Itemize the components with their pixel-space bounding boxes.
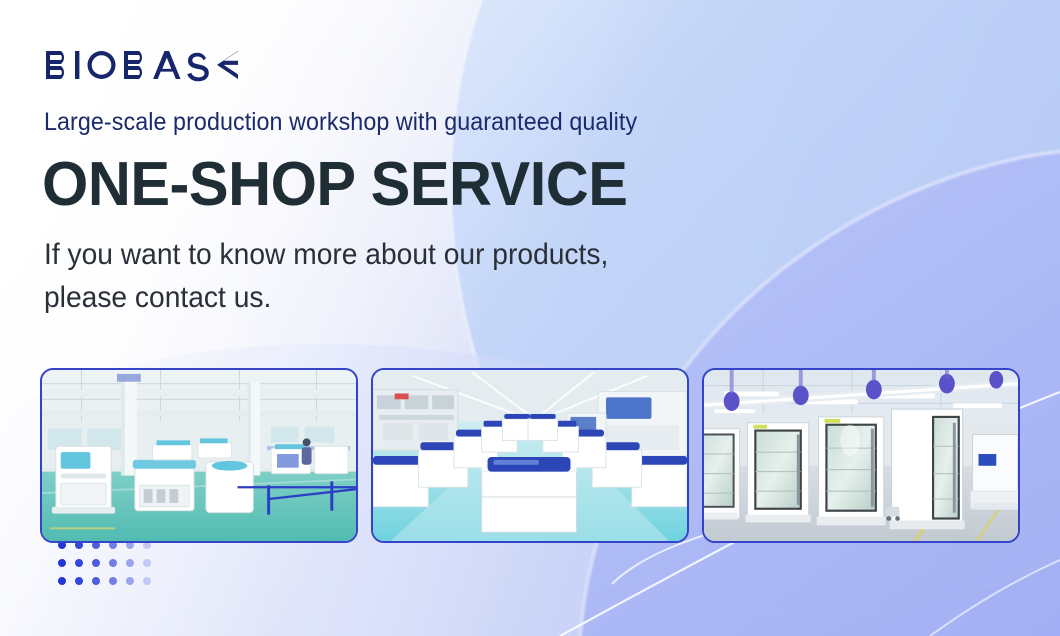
- page-title: ONE-SHOP SERVICE: [42, 152, 627, 219]
- dot: [58, 559, 66, 567]
- photo-panel-workshop[interactable]: [40, 368, 358, 543]
- dot: [143, 577, 151, 585]
- dot: [143, 559, 151, 567]
- body-copy: If you want to know more about our produ…: [44, 234, 608, 319]
- body-copy-line-1: If you want to know more about our produ…: [44, 234, 608, 277]
- biobase-wordmark-icon: [44, 49, 240, 83]
- dot: [92, 577, 100, 585]
- body-copy-line-2: please contact us.: [44, 277, 608, 320]
- decorative-dot-grid: [58, 541, 160, 595]
- tagline: Large-scale production workshop with gua…: [44, 108, 637, 137]
- photo-gallery: [40, 368, 1022, 543]
- dot: [109, 577, 117, 585]
- dot: [126, 559, 134, 567]
- assembly-line-photo-illustration: [373, 370, 687, 541]
- biobase-logo: [44, 48, 240, 84]
- dot: [126, 577, 134, 585]
- dot: [58, 577, 66, 585]
- refrigerator-warehouse-photo-illustration: [704, 370, 1018, 541]
- dot: [109, 559, 117, 567]
- photo-panel-refrigerators[interactable]: [702, 368, 1020, 543]
- photo-panel-assembly-line[interactable]: [371, 368, 689, 543]
- dot: [75, 559, 83, 567]
- dot: [92, 559, 100, 567]
- dot: [75, 577, 83, 585]
- promo-banner: Large-scale production workshop with gua…: [0, 0, 1060, 636]
- workshop-photo-illustration: [42, 370, 356, 541]
